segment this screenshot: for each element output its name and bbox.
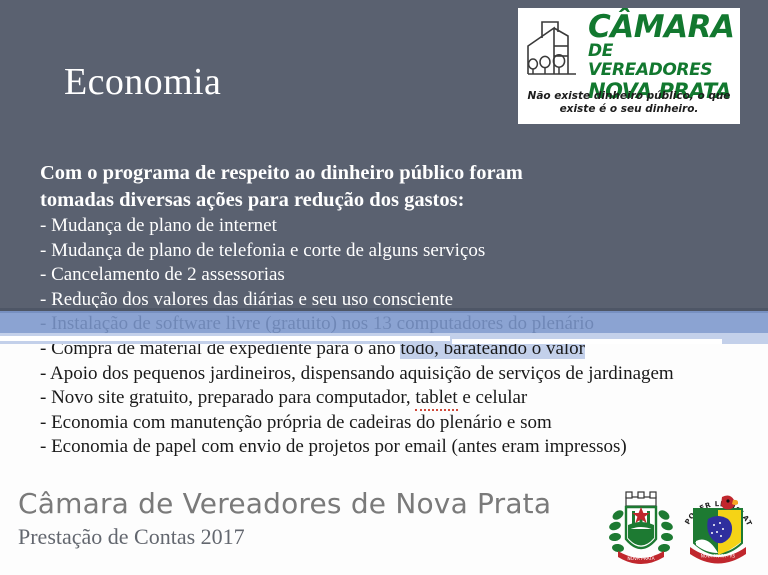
brasao-nova-prata-icon: NOVA PRATA xyxy=(604,485,678,573)
camara-building-icon xyxy=(524,12,586,86)
brasao-poder-legislativo-icon: PODER LEGISLATIVO MUNICIPAL xyxy=(678,483,758,573)
list-item: - Mudança de plano de telefonia e corte … xyxy=(40,239,756,264)
selection-band-gap-right xyxy=(452,339,722,344)
logo-tagline-line-1: Não existe dinheiro público, o que xyxy=(524,90,734,103)
list-item: - Economia de papel com envio de projeto… xyxy=(40,435,756,460)
list-item: - Mudança de plano de internet xyxy=(40,214,756,239)
list-item-text: - Novo site gratuito, preparado para com… xyxy=(40,387,527,411)
page-title: Economia xyxy=(64,58,221,106)
logo-tagline-line-2: existe é o seu dinheiro. xyxy=(524,103,734,116)
svg-text:NOVA PRATA: NOVA PRATA xyxy=(627,556,654,562)
footer-title: Câmara de Vereadores de Nova Prata xyxy=(18,487,551,521)
svg-text:NOVA PRATA - RS: NOVA PRATA - RS xyxy=(701,554,736,559)
footer-subtitle: Prestação de Contas 2017 xyxy=(18,523,245,551)
list-item: - Novo site gratuito, preparado para com… xyxy=(40,386,756,411)
spellcheck-underline: tablet xyxy=(415,387,457,411)
selection-band-gap-left xyxy=(0,336,450,341)
lead-paragraph-line-1: Com o programa de respeito ao dinheiro p… xyxy=(40,160,756,186)
list-item: - Economia com manutenção própria de cad… xyxy=(40,411,756,436)
list-item: - Cancelamento de 2 assessorias xyxy=(40,263,756,288)
logo-tagline: Não existe dinheiro público, o que exist… xyxy=(524,88,734,116)
logo-line-camara: CÂMARA xyxy=(588,13,734,42)
selection-band[interactable] xyxy=(0,311,768,333)
lead-paragraph-line-2: tomadas diversas ações para redução dos … xyxy=(40,187,756,213)
camara-logo: CÂMARA DE VEREADORES NOVA PRATA Não exis… xyxy=(518,8,740,124)
list-item: - Apoio dos pequenos jardineiros, dispen… xyxy=(40,362,756,387)
logo-line-vereadores: DE VEREADORES xyxy=(588,42,734,80)
slide-footer: Câmara de Vereadores de Nova Prata Prest… xyxy=(0,465,768,575)
presentation-slide: Economia xyxy=(0,0,768,575)
